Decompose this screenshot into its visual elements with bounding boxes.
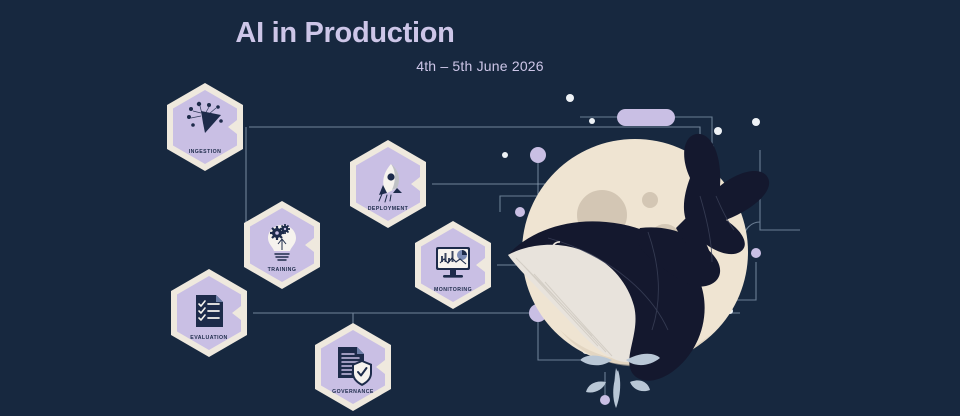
event-dates: 4th – 5th June 2026 [0, 58, 960, 74]
page-title: AI in Production [0, 18, 690, 50]
hex-label: DEPLOYMENT [368, 206, 409, 212]
hex-label: GOVERNANCE [332, 389, 374, 395]
checklist-icon [196, 295, 223, 327]
pipeline-node-monitoring[interactable]: MONITORING [415, 221, 491, 309]
pipeline-node-evaluation[interactable]: EVALUATION [171, 269, 247, 357]
poster-canvas: INGESTION DEPLOYMENT [0, 0, 960, 416]
pipeline-node-deployment[interactable]: DEPLOYMENT [350, 140, 426, 228]
pipeline-node-training[interactable]: TRAINING [244, 201, 320, 289]
hex-label: EVALUATION [190, 335, 227, 341]
hex-label: INGESTION [189, 149, 222, 155]
pipeline-node-governance[interactable]: GOVERNANCE [315, 323, 391, 411]
hex-label: MONITORING [434, 287, 472, 293]
pipeline-node-ingestion[interactable]: INGESTION [167, 83, 243, 171]
hex-label: TRAINING [268, 267, 297, 273]
